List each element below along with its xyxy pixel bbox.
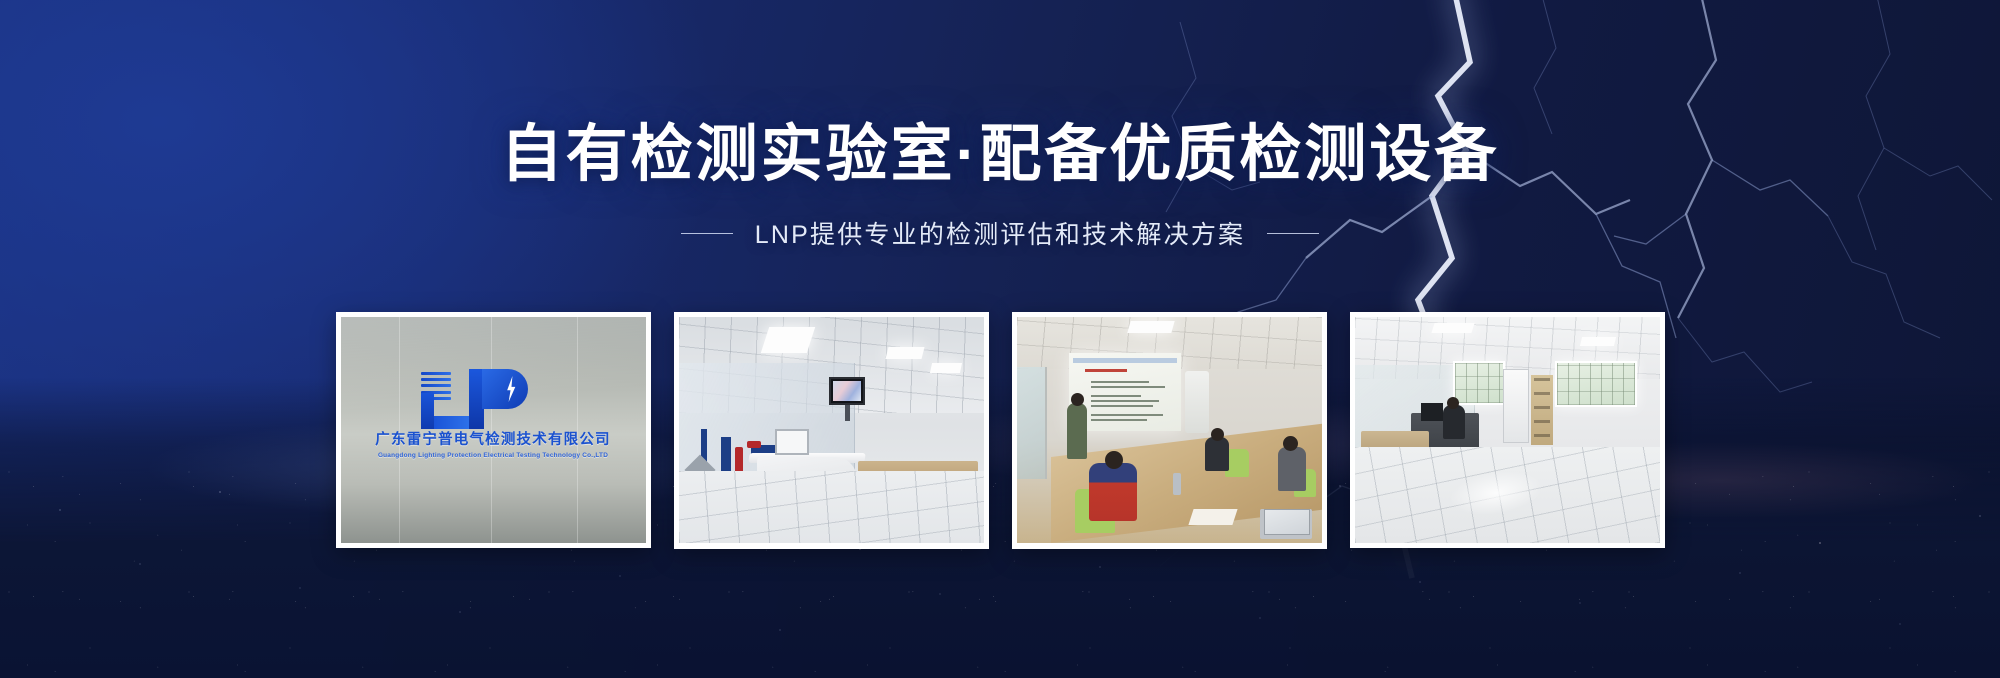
photo-card-lab[interactable] [674, 312, 989, 549]
attendee-head [1211, 428, 1224, 441]
employee-head [1447, 397, 1459, 409]
slide-header [1073, 358, 1177, 363]
slide-line [1091, 400, 1159, 402]
slide-line [1091, 395, 1141, 397]
window-grille [1455, 363, 1503, 403]
attendee-head [1105, 451, 1123, 469]
ceiling-light [1431, 323, 1474, 333]
hero-banner: 自有检测实验室·配备优质检测设备 LNP提供专业的检测评估和技术解决方案 [0, 0, 2000, 678]
rule-left [681, 233, 733, 234]
documents [1188, 509, 1237, 525]
subtitle-row: LNP提供专业的检测评估和技术解决方案 [0, 215, 2000, 251]
employee [1443, 405, 1465, 439]
hv-insulator [747, 441, 761, 448]
slide-line [1091, 414, 1163, 416]
attendee [1089, 463, 1137, 521]
monitor-mount [845, 405, 850, 421]
slide-line [1091, 386, 1165, 388]
window-grille [1557, 363, 1635, 405]
banner-copy: 自有检测实验室·配备优质检测设备 LNP提供专业的检测评估和技术解决方案 [0, 120, 2000, 251]
page-subtitle: LNP提供专业的检测评估和技术解决方案 [755, 215, 1245, 251]
slide-line [1091, 405, 1153, 407]
ceiling-light [1127, 321, 1174, 333]
lnp-logo-icon [393, 363, 593, 429]
rule-right [1267, 233, 1319, 234]
air-conditioner [1185, 371, 1209, 433]
attendee-head [1283, 436, 1298, 451]
attendee [1205, 437, 1229, 471]
presenter-head [1071, 393, 1084, 406]
testing-lab-photo [679, 317, 984, 543]
wall-monitor [829, 377, 865, 405]
laptop [1260, 509, 1312, 539]
logo-letter-l [421, 393, 434, 429]
ceiling-light [885, 347, 924, 359]
company-name-en: Guangdong Lighting Protection Electrical… [341, 452, 646, 459]
lab-floor [679, 471, 984, 543]
company-signage-photo: 广东雷宁普电气检测技术有限公司 Guangdong Lighting Prote… [341, 317, 646, 543]
attendee [1278, 447, 1306, 491]
glass-door [1017, 367, 1047, 479]
bookshelf [1531, 375, 1553, 445]
presenter [1067, 403, 1087, 459]
slide-title [1085, 369, 1127, 372]
photo-card-signage[interactable]: 广东雷宁普电气检测技术有限公司 Guangdong Lighting Prote… [336, 312, 651, 548]
ceiling-light [1579, 337, 1615, 346]
desktop-monitor [1421, 403, 1443, 421]
ceiling-light [760, 327, 814, 353]
photo-strip: 广东雷宁普电气检测技术有限公司 Guangdong Lighting Prote… [0, 312, 2000, 549]
office-photo [1355, 317, 1660, 543]
ceiling-light [929, 363, 961, 373]
office-window [1555, 361, 1637, 407]
photo-card-meeting[interactable] [1012, 312, 1327, 549]
photo-card-office[interactable] [1350, 312, 1665, 548]
thermos [1173, 473, 1181, 495]
slide-line [1091, 419, 1147, 421]
storage-cabinet [1503, 369, 1529, 443]
office-window [1453, 361, 1505, 405]
console-monitor [775, 429, 809, 455]
slide-line [1091, 381, 1149, 383]
signage-content: 广东雷宁普电气检测技术有限公司 Guangdong Lighting Prote… [341, 363, 646, 459]
logo-letter-p [469, 369, 484, 429]
meeting-room-photo [1017, 317, 1322, 543]
company-name-cn: 广东雷宁普电气检测技术有限公司 [341, 433, 646, 448]
page-title: 自有检测实验室·配备优质检测设备 [0, 120, 2000, 189]
